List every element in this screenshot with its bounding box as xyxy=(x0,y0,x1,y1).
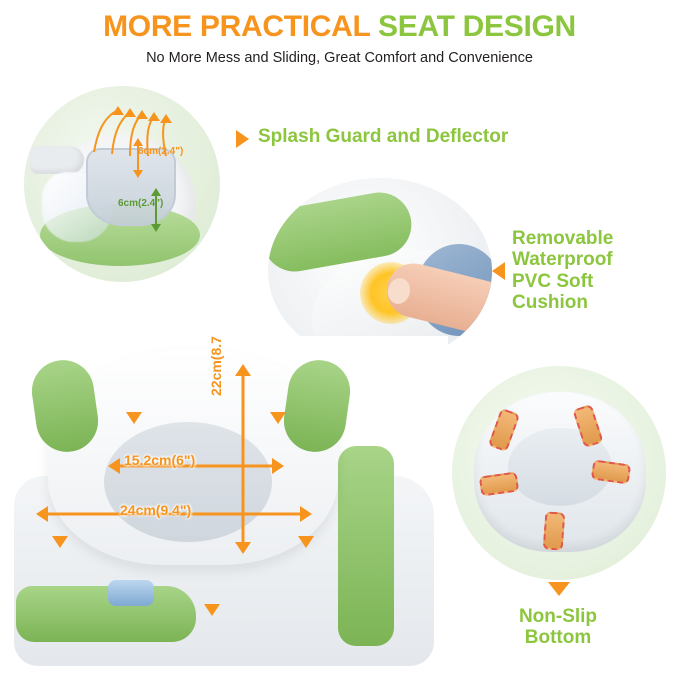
page-title: MORE PRACTICAL SEAT DESIGN xyxy=(0,10,679,44)
nonslip-label-line2: Bottom xyxy=(500,627,616,648)
page-title-part1: MORE PRACTICAL xyxy=(103,10,378,43)
nonslip-pad-5 xyxy=(543,511,566,550)
splash-dim-top: 6cm(2.4") xyxy=(138,146,183,157)
inner-width-dimension-label: 15.2cm(6") xyxy=(124,452,195,468)
pressure-arrow-icon-1 xyxy=(126,412,142,424)
nonslip-label-arrow-icon xyxy=(548,582,570,596)
seat-dimensions-photo: 22cm(8.7") 15.2cm(6") 24cm(9.4") xyxy=(8,336,448,672)
splash-label-arrow-icon xyxy=(236,130,249,148)
nonslip-label: Non-Slip Bottom xyxy=(500,606,616,649)
left-green-foot-shape xyxy=(16,586,196,642)
splash-dim-bottom: 6cm(2.4") xyxy=(118,198,163,209)
cushion-label: Removable Waterproof PVC Soft Cushion xyxy=(512,228,613,313)
right-handle-shape xyxy=(280,356,354,456)
dim-arrow-top-icon xyxy=(130,138,146,178)
product-infographic: MORE PRACTICAL SEAT DESIGN No More Mess … xyxy=(0,0,679,679)
splash-guard-label: Splash Guard and Deflector xyxy=(258,126,508,147)
nonslip-bottom-photo xyxy=(452,366,666,580)
blue-accent-shape xyxy=(108,580,154,606)
right-green-part-shape xyxy=(338,446,394,646)
cushion-label-line2: Waterproof xyxy=(512,249,613,270)
pressure-arrow-icon-3 xyxy=(52,536,68,548)
page-subtitle: No More Mess and Sliding, Great Comfort … xyxy=(0,50,679,66)
outer-width-dimension-label: 24cm(9.4") xyxy=(120,502,191,518)
cushion-label-line1: Removable xyxy=(512,228,613,249)
nonslip-label-line1: Non-Slip xyxy=(500,606,616,627)
dim-arrow-bottom-icon xyxy=(148,188,164,232)
cushion-label-line4: Cushion xyxy=(512,292,613,313)
nozzle-shape xyxy=(30,146,84,174)
pressure-arrow-icon-2 xyxy=(270,412,286,424)
splash-guard-photo: 6cm(2.4") 6cm(2.4") xyxy=(24,86,220,282)
page-title-part2: SEAT DESIGN xyxy=(378,10,576,43)
pressure-arrow-icon-5 xyxy=(298,536,314,548)
cushion-label-arrow-icon xyxy=(492,262,505,280)
pressure-arrow-icon-4 xyxy=(204,604,220,616)
cushion-label-line3: PVC Soft xyxy=(512,271,613,292)
height-dimension-label: 22cm(8.7") xyxy=(208,336,224,396)
